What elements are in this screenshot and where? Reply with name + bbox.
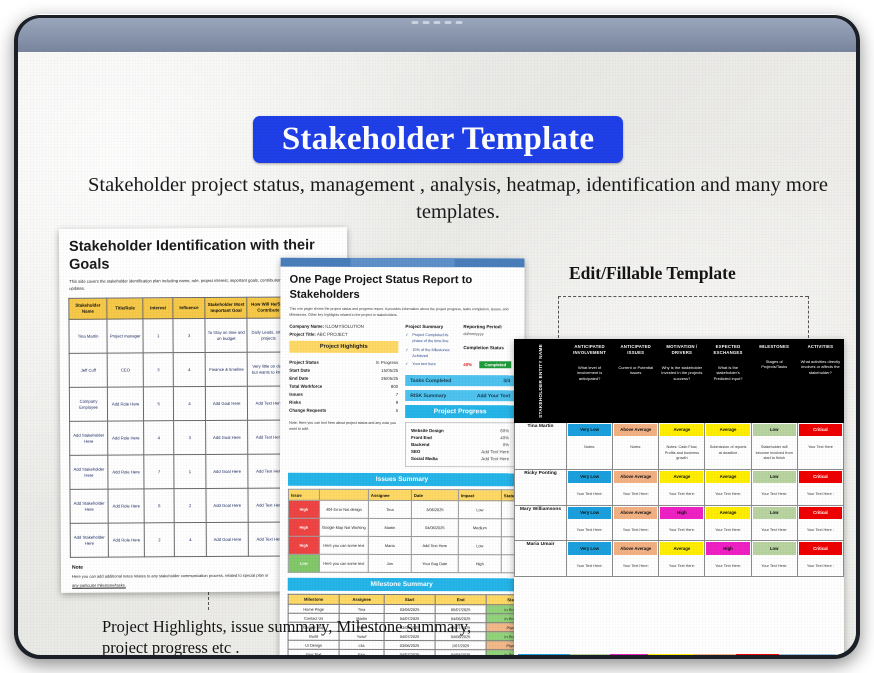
progress-value: 0% [503, 443, 509, 448]
highlight-label: Risks [289, 400, 301, 405]
heatmap-cell[interactable]: LowYour Text Here: [751, 469, 797, 505]
heatmap-level-badge: High [660, 507, 703, 519]
table-cell[interactable]: 4 [174, 523, 206, 557]
report-note: Note: Here you can text here about proje… [289, 420, 398, 433]
table-row[interactable]: HighHere you can some textMariaAdd Text … [288, 537, 524, 556]
heatmap-level-badge: Average [660, 424, 703, 436]
table-cell[interactable]: 3 [174, 421, 206, 455]
heatmap-col-sub: Stages of Projects/Tasks [754, 359, 795, 370]
heatmap-level-badge: Critical [799, 471, 842, 483]
connector-vertical-right [558, 296, 559, 338]
highlight-row: Issues7 [289, 390, 398, 398]
device-topbar [18, 18, 856, 54]
issue-date[interactable]: Add Text Here [411, 537, 458, 555]
highlight-label: Project Status [289, 360, 319, 365]
highlight-row: End Date26/05/25 [289, 374, 398, 382]
heatmap-cell-note: Your Text Here: [568, 483, 611, 504]
heatmap-legend: Very LowLowHighAverageAbove AverageCriti… [518, 654, 836, 655]
highlight-value: In Progress [376, 360, 398, 365]
heatmap-cell[interactable]: Above AverageNotes: [613, 422, 659, 469]
highlight-row: Start Date15/05/25 [289, 366, 398, 374]
table-row[interactable]: High404 Error Not designTina3/06/2025Low… [288, 501, 524, 520]
table-cell[interactable]: 8 [144, 489, 174, 523]
progress-label: Social Media [411, 456, 438, 461]
project-title-row: Project Title: ABC PROJECT [289, 332, 398, 337]
page-subtitle: Stakeholder project status, management ,… [78, 172, 838, 226]
table-cell[interactable]: CEO [107, 353, 143, 387]
table-cell[interactable]: 2 [144, 523, 174, 557]
heatmap-cell-note: Your Text Here: [568, 519, 611, 540]
heatmap-cell[interactable]: Very LowYour Text Here: [567, 469, 613, 505]
heatmap-cell[interactable]: Very LowYour Text Here: [567, 541, 613, 577]
progress-label: Website Design [411, 428, 444, 433]
legend-item: Any Other [779, 654, 836, 655]
heatmap-cell[interactable]: AverageYour Text Here: [659, 541, 705, 577]
heatmap-level-badge: Low [753, 471, 796, 483]
table-cell[interactable]: 1 [174, 455, 206, 489]
project-progress-list: Website Design60%Front End40%Backend0%SE… [405, 422, 515, 467]
table-cell[interactable]: Add Stakeholder Here [70, 455, 108, 489]
project-title-value: ABC PROJECT [317, 332, 348, 337]
heatmap-cell-note: Your Text Here : [799, 555, 842, 576]
risk-summary-row: RISK Summary Add Your Text [405, 390, 515, 401]
heatmap-level-badge: Very Low [568, 542, 611, 554]
heatmap-cell-note: Your Text Here: [614, 555, 657, 576]
heatmap-level-badge: Critical [799, 424, 842, 436]
reporting-period-title: Reporting Period: [463, 325, 515, 330]
heatmap-name-column-header: STAKEHOLDER ENTITY NAME [515, 340, 567, 423]
milestone-assignee[interactable]: Tina [339, 605, 384, 614]
issue-text[interactable]: Here you can some text [319, 555, 368, 573]
heatmap-level-badge: Average [706, 507, 749, 519]
table-cell[interactable]: Add Role Here [107, 387, 143, 421]
heatmap-col-title: ANTICIPATED ISSUES [615, 344, 656, 356]
report-description: This one pager shows the project status … [289, 306, 515, 319]
table-cell[interactable]: Jeff Cuff [69, 353, 107, 387]
reporting-period-value: dd/mm/yyyy [463, 333, 515, 337]
project-summary-title: Project Summary [405, 324, 457, 329]
issue-impact[interactable]: High [458, 555, 501, 573]
heatmap-col-title: ANTICIPATED INVOLVEMENT [569, 344, 610, 356]
highlight-value: 9 [396, 400, 398, 405]
status-report-sheet[interactable]: One Page Project Status Report to Stakeh… [279, 258, 524, 655]
table-row[interactable]: HighGoogle Map Not WorkingMartin04/06/20… [288, 519, 524, 538]
heatmap-cell[interactable]: LowYour Text Here: [751, 505, 797, 541]
device-bezel: Stakeholder Template Stakeholder project… [18, 18, 856, 655]
highlight-value: 800 [391, 384, 398, 389]
heatmap-cell-note: Your Text Here: [660, 555, 703, 576]
device-speaker-dots [412, 21, 463, 24]
table-cell[interactable]: 4 [173, 387, 205, 421]
heatmap-cell-note: Your Text Here: [753, 483, 796, 504]
heatmap-col-title: MOTIVATION / DRIVERS [661, 344, 702, 356]
table-cell[interactable]: Add Role Here [108, 421, 144, 455]
heatmap-level-badge: Average [706, 424, 749, 436]
issue-text[interactable]: 404 Error Not design [319, 501, 368, 519]
table-cell[interactable]: 4 [173, 353, 205, 387]
connector-horizontal-right [558, 296, 808, 297]
progress-value: Add Text Here [481, 450, 509, 455]
heatmap-level-badge: Average [706, 471, 749, 483]
heatmap-cell[interactable]: CriticalYour Text Here [797, 422, 843, 469]
highlight-row: Change Requests5 [289, 406, 398, 414]
progress-row: Social MediaAdd Text Here [411, 455, 509, 462]
table-cell[interactable]: 3 [143, 353, 173, 387]
table-row[interactable]: LowHere you can some textJonYour Bug Dat… [288, 555, 524, 574]
table-cell[interactable]: Project manager [107, 319, 143, 353]
heatmap-col-sub: What activities directly involves or aff… [800, 359, 841, 376]
issues-col-3: Date [411, 490, 458, 501]
heatmap-cell-note: Your Text Here: [753, 519, 796, 540]
heatmap-cell-note: Notes: [614, 436, 657, 457]
heatmap-cell-note: Your Text Here: [753, 555, 796, 576]
heatmap-cell-note: Notes: Cash Flow, Profits and business g… [660, 436, 703, 468]
heatmap-cell[interactable]: CriticalYour Text Here : [797, 469, 843, 505]
issue-priority[interactable]: Low [288, 555, 319, 573]
table-cell[interactable]: 2 [174, 489, 206, 523]
progress-label: Front End [411, 435, 432, 440]
issue-priority[interactable]: High [288, 537, 319, 555]
heatmap-col-4: MILESTONESStages of Projects/Tasks [751, 340, 797, 423]
legend-item: Above Average [694, 654, 736, 655]
table-row[interactable]: Ricky PontingVery LowYour Text Here:Abov… [515, 469, 844, 505]
heatmap-cell-note: Your Text Here : [799, 483, 842, 504]
heatmap-cell-note: Notes: [568, 436, 611, 457]
heatmap-stakeholder-name[interactable]: Mary Williamsons [515, 505, 567, 541]
heatmap-col-3: EXPECTED EXCHANGESWhat is the stakeholde… [705, 340, 751, 423]
page-title: Stakeholder Template [282, 121, 594, 158]
heatmap-body: Tina MartinVery LowNotes:Above AverageNo… [515, 422, 844, 576]
summary-item: 15% of the Milestones Achieved [405, 347, 457, 359]
legend-item: Average [648, 654, 694, 655]
highlight-label: End Date [289, 376, 308, 381]
milestone-name[interactable]: Home Page [288, 605, 339, 614]
issue-assignee[interactable]: Tina [368, 501, 411, 519]
issue-assignee[interactable]: Martin [368, 519, 411, 537]
heatmap-level-badge: Average [660, 542, 703, 554]
heatmap-cell[interactable]: AverageSubmission of reports at deadline [705, 422, 751, 469]
heatmap-col-5: ACTIVITIESWhat activities directly invol… [797, 340, 843, 423]
identification-col-4: Stakeholder Most Important Goal [205, 297, 247, 318]
milestone-col-0: Milestone [288, 595, 339, 605]
heatmap-cell-note: Submission of reports at deadline [706, 436, 749, 462]
table-cell[interactable]: To Stay on time and on budget [205, 318, 247, 352]
heatmap-col-sub: What is the stakeholder's Predicted inpu… [707, 365, 748, 382]
identification-col-1: Title/Role [107, 298, 143, 319]
issues-col-4: Impact [458, 490, 501, 501]
issue-priority[interactable]: High [288, 519, 319, 537]
heatmap-cell[interactable]: CriticalYour Text Here : [797, 505, 843, 541]
project-title-label: Project Title: [289, 332, 316, 337]
heatmap-cell[interactable]: Above AverageYour Text Here: [613, 505, 659, 541]
legend-item: Low [570, 654, 610, 655]
table-cell[interactable]: 3 [173, 319, 205, 353]
heatmap-cell[interactable]: Above AverageYour Text Here: [613, 469, 659, 505]
summary-item: Project Completed its phase of the time … [405, 332, 457, 344]
slide-canvas: Stakeholder Template Stakeholder project… [18, 52, 856, 655]
project-highlights-list: Project StatusIn ProgressStart Date15/05… [289, 358, 398, 414]
issues-col-1 [319, 490, 368, 501]
highlight-value: 15/05/25 [381, 368, 398, 373]
tasks-completed-label: Tasks Completed [410, 378, 451, 384]
report-heading: One Page Project Status Report to Stakeh… [289, 273, 515, 303]
heatmap-col-2: MOTIVATION / DRIVERSWhy is the stakehold… [659, 340, 705, 423]
project-progress-title: Project Progress [405, 405, 515, 418]
table-cell[interactable]: Finance & timeline [205, 352, 247, 386]
table-row[interactable]: Maria UmairVery LowYour Text Here:Above … [515, 541, 844, 577]
progress-value: Add Text Here [481, 457, 509, 462]
milestone-col-1: Assignee [339, 595, 384, 605]
heatmap-level-badge: High [706, 542, 749, 554]
heatmap-cell[interactable]: CriticalYour Text Here : [797, 541, 843, 577]
tasks-completed-value: 3/4 [503, 378, 510, 384]
table-cell[interactable]: Tina Martin [69, 319, 107, 353]
table-cell[interactable]: Add Goal Here [206, 488, 248, 522]
heatmap-col-title: EXPECTED EXCHANGES [707, 344, 748, 356]
heatmap-stakeholder-name[interactable]: Maria Umair [515, 541, 567, 577]
heatmap-level-badge: Low [753, 507, 796, 519]
heatmap-cell[interactable]: Very LowYour Text Here: [567, 505, 613, 541]
heatmap-cell[interactable]: AverageYour Text Here: [705, 505, 751, 541]
heatmap-col-sub: What level of involvement is anticipated… [569, 365, 610, 382]
issue-text[interactable]: Here you can some text [319, 537, 368, 555]
project-summary-items: Project Completed its phase of the time … [405, 332, 457, 366]
issue-date[interactable]: Your Bug Date [411, 555, 458, 573]
legend-item: Critical [736, 654, 778, 655]
issues-body: High404 Error Not designTina3/06/2025Low… [288, 501, 524, 574]
highlight-label: Issues [289, 392, 303, 397]
issue-date[interactable]: 04/06/2025 [411, 519, 458, 537]
identification-col-3: Influence [173, 298, 205, 319]
issue-assignee[interactable]: Jon [368, 555, 411, 573]
highlight-label: Start Date [289, 368, 310, 373]
company-name-label: Company Name: [289, 324, 324, 329]
issue-text[interactable]: Google Map Not Working [319, 519, 368, 537]
heatmap-table[interactable]: STAKEHOLDER ENTITY NAMEANTICIPATED INVOL… [514, 339, 844, 577]
page-title-chip: Stakeholder Template [253, 116, 623, 163]
progress-label: SEO [411, 449, 420, 454]
heatmap-col-sub: Current or Potential issues [615, 365, 656, 376]
issue-impact[interactable]: Medium [458, 519, 501, 537]
edit-fillable-label: Edit/Fillable Template [569, 263, 736, 284]
heatmap-level-badge: Above Average [614, 471, 657, 483]
heatmap-cell-note: Your Text Here: [706, 483, 749, 504]
progress-value: 40% [500, 436, 509, 441]
heatmap-stakeholder-name[interactable]: Ricky Ponting [515, 469, 567, 505]
table-cell[interactable]: Add Role Here [108, 489, 144, 523]
table-cell[interactable]: Add Stakeholder Here [70, 421, 108, 455]
table-row[interactable]: Mary WilliamsonsVery LowYour Text Here:A… [515, 505, 844, 541]
table-row[interactable]: Tina MartinVery LowNotes:Above AverageNo… [515, 422, 844, 469]
highlight-label: Total Workforce [289, 384, 322, 389]
heatmap-cell-note: Your Text Here: [568, 555, 611, 576]
heatmap-level-badge: Very Low [568, 471, 611, 483]
heatmap-cell-note: Your Text Here: [614, 519, 657, 540]
highlight-value: 26/05/25 [381, 376, 398, 381]
summary-item: Your text here [405, 361, 457, 367]
heatmap-cell[interactable]: HighYour Text Here: [705, 541, 751, 577]
heatmap-cell-note: Your Text Here: [660, 519, 703, 540]
milestone-header-row: MilestoneAssigneeStartEndStatus [288, 595, 524, 606]
highlight-value: 7 [396, 392, 398, 397]
company-name-value: ILLOMYSOLUTION [325, 324, 364, 329]
milestone-end[interactable]: 05/07/2025 [435, 605, 486, 614]
table-cell[interactable]: Add Goal Here [206, 522, 248, 556]
heatmap-stakeholder-name[interactable]: Tina Martin [515, 422, 567, 469]
heatmap-level-badge: Average [660, 471, 703, 483]
table-cell[interactable]: Add Goal Here [205, 386, 247, 420]
table-cell[interactable]: Company Employee [69, 387, 107, 421]
bottom-left-caption: Project Highlights, issue summary, Miles… [102, 616, 482, 655]
project-highlights-title: Project Highlights [289, 341, 398, 353]
issues-summary-table[interactable]: IssueAssigneeDateImpactStatus High404 Er… [288, 489, 525, 574]
heatmap-col-sub: Why is the stakeholder invested in the p… [661, 365, 702, 382]
connector-vertical-right2 [808, 296, 809, 338]
progress-value: 60% [500, 429, 509, 434]
heatmap-level-badge: Critical [799, 507, 842, 519]
heatmap-cell-note: Your Text Here: [614, 483, 657, 504]
identification-col-2: Interest [143, 298, 173, 319]
table-cell[interactable]: Add Role Here [108, 523, 144, 557]
issue-impact[interactable]: Low [458, 537, 501, 555]
issue-priority[interactable]: High [288, 501, 319, 519]
issues-summary-title: Issues Summary [288, 473, 516, 487]
report-top-tab [351, 258, 455, 267]
heatmap-cell[interactable]: LowYour Text Here: [751, 541, 797, 577]
tasks-completed-row: Tasks Completed 3/4 [405, 375, 515, 386]
risk-summary-value: Add Your Text [477, 393, 510, 399]
legend-item: Very Low [518, 654, 570, 655]
table-cell[interactable]: Add Stakeholder Here [70, 523, 108, 557]
heatmap-cell-note: Your Text Here: [660, 483, 703, 504]
identification-col-0: Stakeholder Name [69, 298, 107, 319]
risk-summary-label: RISK Summary [410, 393, 446, 399]
heatmap-col-title: MILESTONES [754, 344, 795, 350]
table-cell[interactable]: Add Stakeholder Here [70, 489, 108, 523]
heatmap-level-badge: Above Average [614, 542, 657, 554]
issue-impact[interactable]: Low [458, 501, 501, 519]
highlight-label: Change Requests [289, 408, 326, 413]
milestone-summary-title: Milestone Summary [288, 578, 516, 592]
heatmap-col-title: ACTIVITIES [800, 344, 841, 350]
heatmap-name-column-label: STAKEHOLDER ENTITY NAME [538, 344, 544, 418]
milestone-col-3: End [435, 595, 486, 605]
issues-header-row: IssueAssigneeDateImpactStatus [288, 490, 524, 502]
company-name-row: Company Name: ILLOMYSOLUTION [289, 324, 398, 329]
heatmap-level-badge: Low [753, 542, 796, 554]
table-cell[interactable]: Add Role Here [108, 455, 144, 489]
heatmap-col-1: ANTICIPATED ISSUESCurrent or Potential i… [613, 340, 659, 423]
table-cell[interactable]: 7 [144, 455, 174, 489]
milestone-col-2: Start [384, 595, 435, 605]
heatmap-cell[interactable]: LowStakeholder will become involved from… [751, 422, 797, 469]
issues-col-0: Issue [288, 490, 319, 501]
legend-item: High [610, 654, 648, 655]
issue-date[interactable]: 3/06/2025 [411, 501, 458, 519]
highlight-value: 5 [396, 408, 398, 413]
milestone-start[interactable]: 03/06/2025 [384, 605, 435, 614]
table-cell[interactable]: 4 [144, 421, 174, 455]
heatmap-cell-note: Your Text Here : [799, 519, 842, 540]
completion-status-title: Completion Status [463, 346, 515, 351]
heatmap-level-badge: Above Average [614, 424, 657, 436]
heatmap-cell[interactable]: AverageYour Text Here: [659, 469, 705, 505]
device-frame: Stakeholder Template Stakeholder project… [14, 14, 860, 659]
heatmap-cell[interactable]: Above AverageYour Text Here: [613, 541, 659, 577]
heatmap-level-badge: Critical [799, 542, 842, 554]
completion-pct: 40% [463, 363, 472, 368]
table-cell[interactable]: Add Goal Here [206, 420, 248, 454]
heatmap-level-badge: Very Low [568, 507, 611, 519]
heatmap-cell[interactable]: AverageNotes: Cash Flow, Profits and bus… [659, 422, 705, 469]
table-cell[interactable]: Add Goal Here [206, 454, 248, 488]
highlight-row: Total Workforce800 [289, 382, 398, 390]
highlight-row: Project StatusIn Progress [289, 358, 398, 366]
completion-badge: Completed [480, 362, 512, 369]
issue-assignee[interactable]: Maria [368, 537, 411, 555]
table-cell[interactable]: 1 [143, 319, 173, 353]
heatmap-col-0: ANTICIPATED INVOLVEMENTWhat level of inv… [567, 340, 613, 423]
heatmap-cell-note: Your Text Here [799, 436, 842, 457]
progress-label: Backend [411, 442, 429, 447]
heatmap-cell[interactable]: HighYour Text Here: [659, 505, 705, 541]
issues-col-2: Assignee [368, 490, 411, 501]
heatmap-level-badge: Very Low [568, 424, 611, 436]
heatmap-cell[interactable]: AverageYour Text Here: [705, 469, 751, 505]
stakeholder-heatmap-sheet[interactable]: STAKEHOLDER ENTITY NAMEANTICIPATED INVOL… [514, 339, 844, 655]
highlight-row: Risks9 [289, 398, 398, 406]
heatmap-level-badge: Above Average [614, 507, 657, 519]
table-cell[interactable]: 5 [144, 387, 174, 421]
heatmap-cell-note: Your Text Here: [706, 555, 749, 576]
heatmap-header-row: STAKEHOLDER ENTITY NAMEANTICIPATED INVOL… [515, 340, 844, 423]
heatmap-cell-note: Your Text Here: [706, 519, 749, 540]
heatmap-level-badge: Low [753, 424, 796, 436]
heatmap-cell[interactable]: Very LowNotes: [567, 422, 613, 469]
heatmap-cell-note: Stakeholder will become involved from st… [753, 436, 796, 468]
